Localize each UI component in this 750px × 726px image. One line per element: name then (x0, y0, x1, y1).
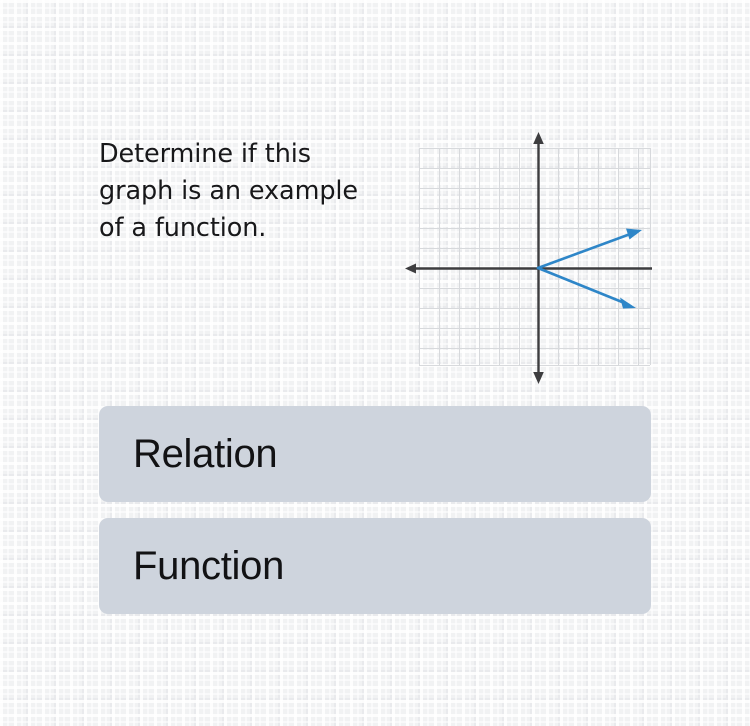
question-line-2: graph is an example (99, 173, 409, 210)
x-axis-left-arrowhead (405, 264, 416, 274)
y-axis-bottom-arrowhead (533, 372, 544, 384)
quiz-content: Determine if this graph is an example of… (0, 0, 750, 726)
x-axis (405, 264, 652, 274)
question-prompt: Determine if this graph is an example of… (99, 136, 409, 247)
answer-option-function[interactable]: Function (99, 518, 651, 614)
y-axis (533, 132, 544, 384)
upper-ray-arrowhead (626, 229, 642, 240)
answer-option-relation[interactable]: Relation (99, 406, 651, 502)
question-line-1: Determine if this (99, 136, 409, 173)
graph-figure (396, 124, 664, 390)
graph-grid (419, 148, 651, 366)
answer-option-function-label: Function (133, 543, 284, 589)
answer-option-relation-label: Relation (133, 431, 277, 477)
y-axis-top-arrowhead (533, 132, 544, 144)
question-line-3: of a function. (99, 210, 409, 247)
lower-ray-arrowhead (620, 298, 636, 309)
coordinate-plane-graph (396, 124, 664, 390)
answer-options-list: Relation Function (99, 406, 651, 630)
